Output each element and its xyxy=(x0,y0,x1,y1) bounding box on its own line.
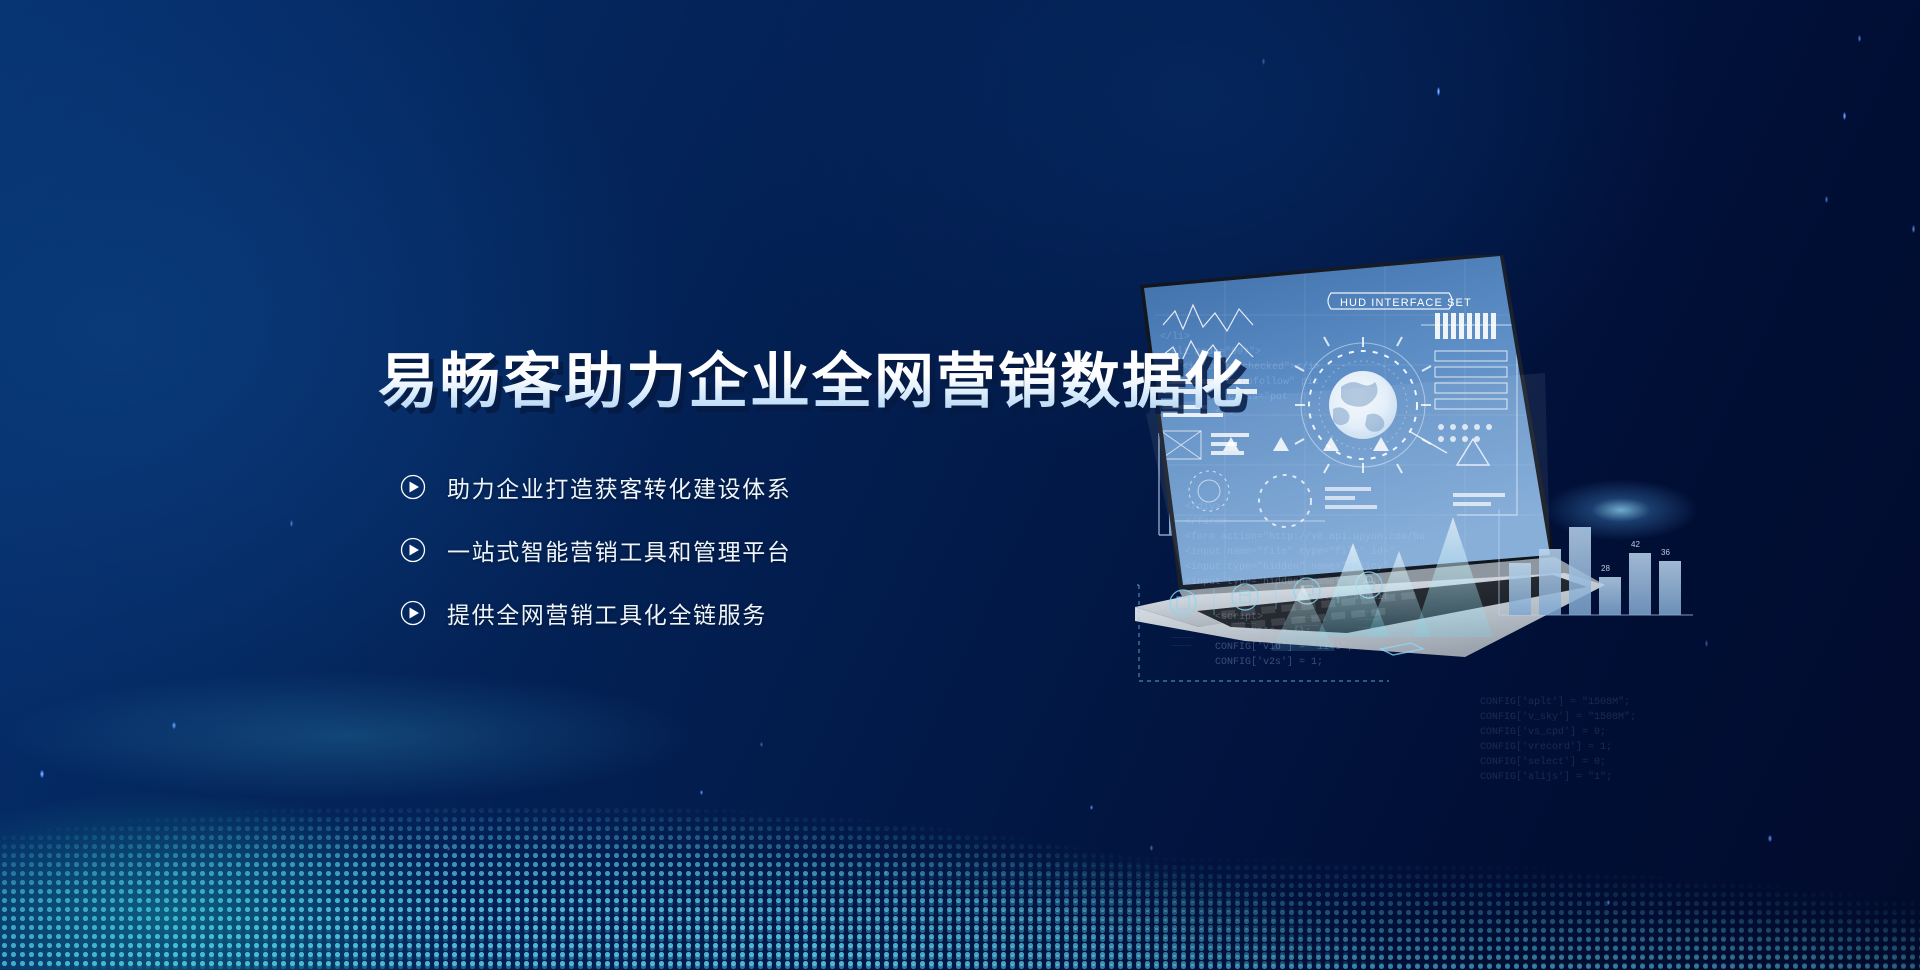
page-title: 易畅客助力企业全网营销数据化 xyxy=(378,348,1246,416)
svg-text:············: ············ xyxy=(1171,643,1191,649)
sparkle-dot xyxy=(1607,900,1610,905)
svg-text:·········: ········· xyxy=(1233,613,1248,619)
svg-text:············: ············ xyxy=(1233,637,1253,643)
list-item-label: 提供全网营销工具化全链服务 xyxy=(447,596,767,630)
svg-text:··············: ·············· xyxy=(1171,635,1195,641)
laptop-screen: HUD INTERFACE SET xyxy=(1140,255,1555,595)
sparkle-dot xyxy=(700,790,703,795)
play-circle-icon xyxy=(400,537,426,563)
list-item: 助力企业打造获客转化建设体系 xyxy=(400,466,791,507)
sparkle-dot xyxy=(1858,35,1861,42)
sparkle-dot xyxy=(1825,196,1828,203)
sparkle-dot xyxy=(760,742,763,747)
sparkle-dot xyxy=(447,846,450,851)
sparkle-dot xyxy=(1262,58,1265,65)
wave-mesh-near xyxy=(0,680,1920,970)
sparkle-dot xyxy=(1768,835,1772,842)
sparkle-dot xyxy=(1150,845,1153,851)
svg-text:42: 42 xyxy=(1631,540,1640,549)
play-circle-icon xyxy=(400,474,426,500)
list-item: 提供全网营销工具化全链服务 xyxy=(400,592,791,633)
sparkle-dot xyxy=(884,870,887,875)
hero-artwork: 32 66 25 xyxy=(1135,255,1920,715)
svg-text:28: 28 xyxy=(1601,564,1610,573)
list-item-label: 助力企业打造获客转化建设体系 xyxy=(447,470,791,504)
feature-list: 助力企业打造获客转化建设体系 一站式智能营销工具和管理平台 提供全网营销工具化全… xyxy=(400,466,791,655)
wave-cyan-tint xyxy=(0,670,760,970)
list-item-label: 一站式智能营销工具和管理平台 xyxy=(447,533,791,567)
sparkle-dot xyxy=(1090,805,1093,810)
sparkle-dot xyxy=(1437,87,1440,96)
sparkle-dot xyxy=(1912,225,1915,233)
play-circle-icon xyxy=(400,600,426,626)
sparkle-dot xyxy=(290,520,293,527)
svg-text:36: 36 xyxy=(1661,548,1670,557)
svg-text:·········: ········· xyxy=(1171,619,1186,625)
wave-mesh-far xyxy=(0,790,1920,970)
svg-text:··············: ·············· xyxy=(1233,629,1257,635)
svg-text:··············: ·············· xyxy=(1233,621,1257,627)
sparkle-dot xyxy=(40,770,44,778)
wave-mesh-mid xyxy=(0,710,1920,970)
sparkle-dot xyxy=(1843,112,1846,120)
svg-text:··············: ·············· xyxy=(1171,627,1195,633)
sparkle-dot xyxy=(172,722,176,729)
list-item: 一站式智能营销工具和管理平台 xyxy=(400,529,791,570)
hero-banner: 32 66 25 xyxy=(0,0,1920,970)
